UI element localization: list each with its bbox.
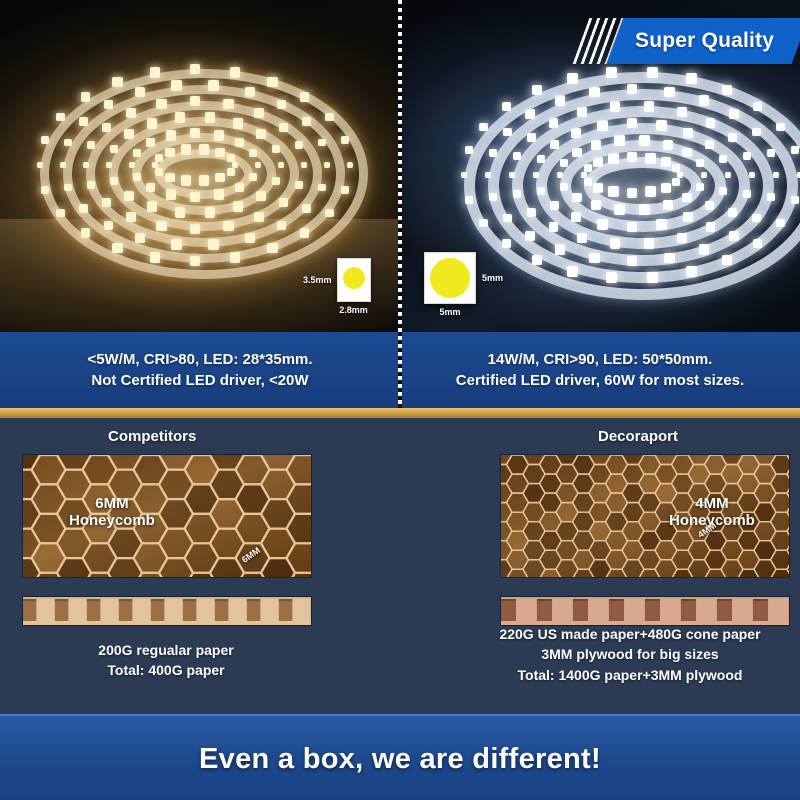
spec-competitor: <5W/M, CRI>80, LED: 28*35mm. Not Certifi… xyxy=(0,332,400,408)
product-comparison-infographic: Super Quality 3.5mm 2.8mm 5mm 5mm <5W/M,… xyxy=(0,0,800,800)
competitor-text-line-2: Total: 400G paper xyxy=(22,660,310,680)
comparison-header-competitors: Competitors xyxy=(108,428,196,445)
spec-competitor-line1: <5W/M, CRI>80, LED: 28*35mm. xyxy=(87,351,312,368)
spec-decoraport-line2: Certified LED driver, 60W for most sizes… xyxy=(456,372,744,389)
banner-label: Super Quality xyxy=(635,29,774,53)
chip-emitter-left xyxy=(343,267,365,289)
footer-tagline: Even a box, we are different! xyxy=(199,743,601,776)
honeycomb-panel-decoraport: 4MM Honeycomb 4MM xyxy=(500,454,790,578)
chip-emitter-right xyxy=(430,258,470,298)
chip-width-label-left: 2.8mm xyxy=(339,305,368,315)
comparison-text-decoraport: 220G US made paper+480G cone paper 3MM p… xyxy=(470,624,790,685)
led-chip-2835-icon: 2.8mm xyxy=(337,258,371,302)
led-chip-callout-right: 5mm 5mm xyxy=(424,252,503,304)
competitor-text-line-1: 200G regualar paper xyxy=(22,640,310,660)
honeycomb-label-competitors: 6MM Honeycomb xyxy=(69,495,155,530)
led-chip-callout-left: 3.5mm 2.8mm xyxy=(303,258,371,302)
chip-height-label-left: 3.5mm xyxy=(303,275,332,285)
banner-box: Super Quality xyxy=(606,18,800,64)
chip-width-label-right: 5mm xyxy=(439,307,460,317)
packaging-comparison-section: Competitors Decoraport 6MM Honeycomb 6MM… xyxy=(0,418,800,714)
spec-decoraport: 14W/M, CRI>90, LED: 50*50mm. Certified L… xyxy=(400,332,800,408)
comparison-text-competitors: 200G regualar paper Total: 400G paper xyxy=(22,640,310,681)
honeycomb-size-competitors: 6MM xyxy=(69,495,155,512)
super-quality-banner: Super Quality xyxy=(581,18,800,64)
honeycomb-word-competitors: Honeycomb xyxy=(69,512,155,529)
chip-height-label-right: 5mm xyxy=(482,273,503,283)
spec-decoraport-line1: 14W/M, CRI>90, LED: 50*50mm. xyxy=(488,351,713,368)
decoraport-text-line-3: Total: 1400G paper+3MM plywood xyxy=(470,665,790,685)
honeycomb-size-decoraport: 4MM xyxy=(669,495,755,512)
decoraport-text-line-2: 3MM plywood for big sizes xyxy=(470,644,790,664)
comparison-header-decoraport: Decoraport xyxy=(598,428,678,445)
led-chip-5050-icon: 5mm xyxy=(424,252,476,304)
footer-tagline-bar: Even a box, we are different! xyxy=(0,714,800,800)
top-photo-row: Super Quality 3.5mm 2.8mm 5mm 5mm xyxy=(0,0,800,332)
gold-separator-bar xyxy=(0,408,800,418)
honeycomb-edge-strip-decoraport xyxy=(500,596,790,626)
vertical-dotted-divider xyxy=(398,0,402,408)
spec-competitor-line2: Not Certified LED driver, <20W xyxy=(91,372,308,389)
honeycomb-panel-competitors: 6MM Honeycomb 6MM xyxy=(22,454,312,578)
honeycomb-edge-strip-competitors xyxy=(22,596,312,626)
decoraport-text-line-1: 220G US made paper+480G cone paper xyxy=(470,624,790,644)
